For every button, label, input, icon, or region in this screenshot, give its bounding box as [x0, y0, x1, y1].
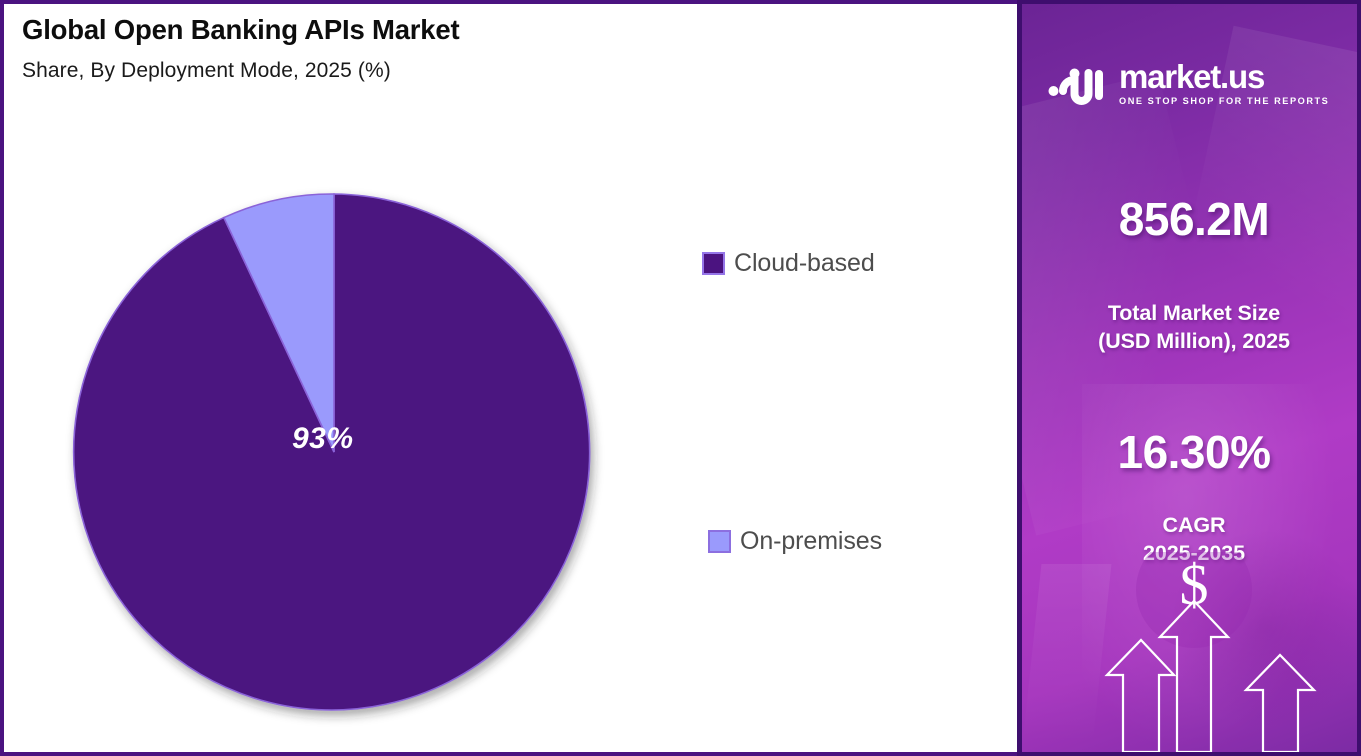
- legend-item-label: On-premises: [740, 529, 882, 554]
- legend-item-on-premises[interactable]: On-premises: [708, 529, 882, 554]
- stat-cagr-value: 16.30%: [1022, 429, 1361, 475]
- legend-item-cloud-based[interactable]: Cloud-based: [702, 251, 875, 276]
- growth-arrows-svg: $: [1022, 552, 1361, 752]
- logo-tagline: ONE STOP SHOP FOR THE REPORTS: [1119, 97, 1329, 106]
- logo-text: market.us ONE STOP SHOP FOR THE REPORTS: [1119, 60, 1329, 106]
- legend-swatch-icon: [708, 530, 731, 553]
- legend-swatch-icon: [702, 252, 725, 275]
- dollar-icon: $: [1180, 552, 1209, 617]
- legend: Cloud-based On-premises: [702, 4, 1002, 756]
- brand-sidebar: market.us ONE STOP SHOP FOR THE REPORTS …: [1017, 0, 1361, 756]
- pie-chart: 93%: [70, 188, 598, 716]
- market-us-logo-icon: [1048, 58, 1110, 108]
- arrow-up-icon: [1246, 655, 1314, 752]
- stat-caption-line: CAGR: [1022, 512, 1361, 540]
- stat-market-size-value: 856.2M: [1022, 196, 1361, 242]
- pie-chart-svg: [70, 188, 598, 716]
- growth-arrows-graphic: $: [1022, 552, 1361, 752]
- chart-infographic: Global Open Banking APIs Market Share, B…: [0, 0, 1361, 756]
- stat-market-size-caption: Total Market Size (USD Million), 2025: [1022, 300, 1361, 355]
- brand-logo[interactable]: market.us ONE STOP SHOP FOR THE REPORTS: [1048, 52, 1338, 114]
- chart-panel: Global Open Banking APIs Market Share, B…: [0, 0, 1018, 756]
- logo-wordmark: market.us: [1119, 60, 1329, 93]
- stat-caption-line: (USD Million), 2025: [1022, 328, 1361, 356]
- arrow-up-icon: [1107, 640, 1174, 752]
- legend-item-label: Cloud-based: [734, 251, 875, 276]
- stat-caption-line: Total Market Size: [1022, 300, 1361, 328]
